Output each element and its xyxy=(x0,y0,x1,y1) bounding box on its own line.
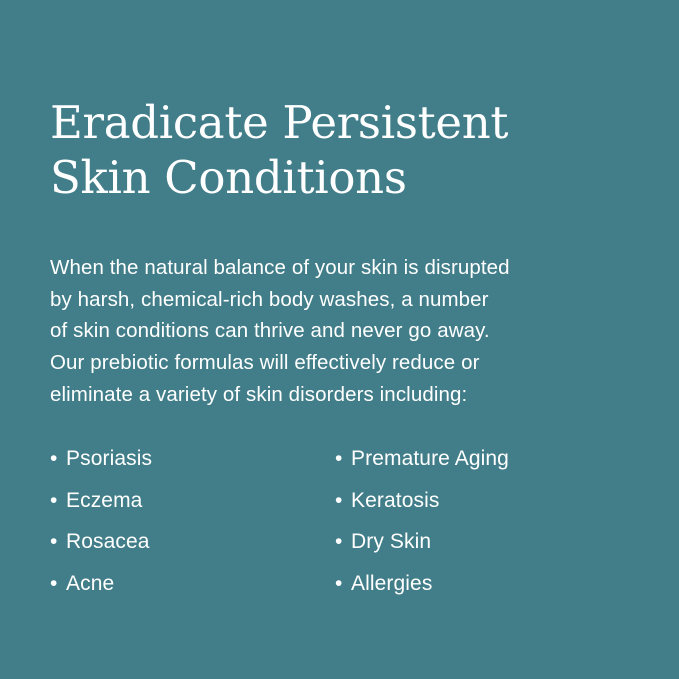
list-item: • Rosacea xyxy=(50,531,335,552)
list-item-label: Keratosis xyxy=(351,490,439,511)
conditions-list-left: • Psoriasis • Eczema • Rosacea • Acne xyxy=(50,448,335,614)
bullet-icon: • xyxy=(50,448,66,469)
list-item: • Premature Aging xyxy=(335,448,635,469)
list-item: • Acne xyxy=(50,573,335,594)
list-item: • Keratosis xyxy=(335,490,635,511)
bullet-icon: • xyxy=(335,531,351,552)
list-item-label: Dry Skin xyxy=(351,531,431,552)
list-item: • Allergies xyxy=(335,573,635,594)
page-title: Eradicate Persistent Skin Conditions xyxy=(50,96,633,206)
bullet-icon: • xyxy=(50,531,66,552)
bullet-icon: • xyxy=(335,490,351,511)
bullet-icon: • xyxy=(335,448,351,469)
list-item-label: Psoriasis xyxy=(66,448,152,469)
list-item: • Dry Skin xyxy=(335,531,635,552)
bullet-icon: • xyxy=(50,490,66,511)
bullet-icon: • xyxy=(50,573,66,594)
list-item-label: Rosacea xyxy=(66,531,150,552)
bullet-icon: • xyxy=(335,573,351,594)
list-item-label: Eczema xyxy=(66,490,142,511)
list-item: • Psoriasis xyxy=(50,448,335,469)
body-paragraph: When the natural balance of your skin is… xyxy=(50,252,633,411)
promo-card: Eradicate Persistent Skin Conditions Whe… xyxy=(0,0,679,679)
conditions-lists: • Psoriasis • Eczema • Rosacea • Acne • … xyxy=(50,448,639,614)
text-content: Eradicate Persistent Skin Conditions Whe… xyxy=(50,96,633,411)
list-item-label: Allergies xyxy=(351,573,432,594)
conditions-list-right: • Premature Aging • Keratosis • Dry Skin… xyxy=(335,448,635,614)
list-item-label: Acne xyxy=(66,573,114,594)
list-item: • Eczema xyxy=(50,490,335,511)
list-item-label: Premature Aging xyxy=(351,448,509,469)
